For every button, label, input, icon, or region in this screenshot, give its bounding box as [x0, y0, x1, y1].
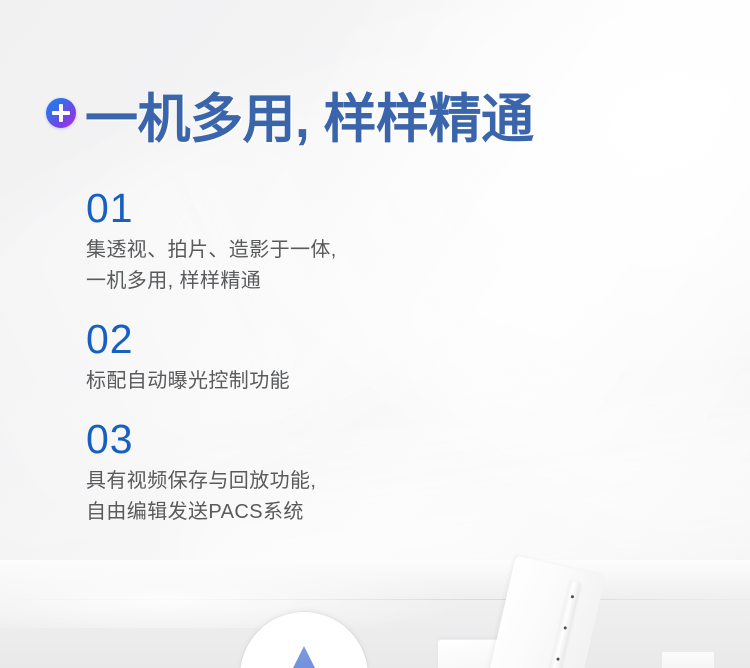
feature-description-line: 一机多用, 样样精通 — [86, 266, 506, 297]
feature-item-02: 02 标配自动曝光控制功能 — [86, 319, 506, 397]
feature-description: 标配自动曝光控制功能 — [86, 366, 506, 397]
feature-list: 01 集透视、拍片、造影于一体, 一机多用, 样样精通 02 标配自动曝光控制功… — [86, 188, 506, 528]
feature-description-line: 具有视频保存与回放功能, — [86, 466, 506, 497]
feature-item-03: 03 具有视频保存与回放功能, 自由编辑发送PACS系统 — [86, 419, 506, 528]
page-title: 一机多用, 样样精通 — [85, 92, 533, 147]
headline-row: 一机多用, 样样精通 — [46, 92, 533, 147]
floor-glow — [0, 558, 750, 628]
feature-number: 01 — [86, 188, 506, 229]
feature-number: 03 — [86, 419, 506, 460]
feature-description: 集透视、拍片、造影于一体, 一机多用, 样样精通 — [86, 235, 506, 297]
feature-description-line: 标配自动曝光控制功能 — [86, 366, 506, 397]
plus-circle-icon — [46, 98, 76, 128]
feature-description-line: 集透视、拍片、造影于一体, — [86, 235, 506, 266]
feature-description: 具有视频保存与回放功能, 自由编辑发送PACS系统 — [86, 466, 506, 528]
promo-page: 一机多用, 样样精通 01 集透视、拍片、造影于一体, 一机多用, 样样精通 0… — [0, 0, 750, 668]
feature-description-line: 自由编辑发送PACS系统 — [86, 497, 506, 528]
feature-item-01: 01 集透视、拍片、造影于一体, 一机多用, 样样精通 — [86, 188, 506, 297]
feature-number: 02 — [86, 319, 506, 360]
